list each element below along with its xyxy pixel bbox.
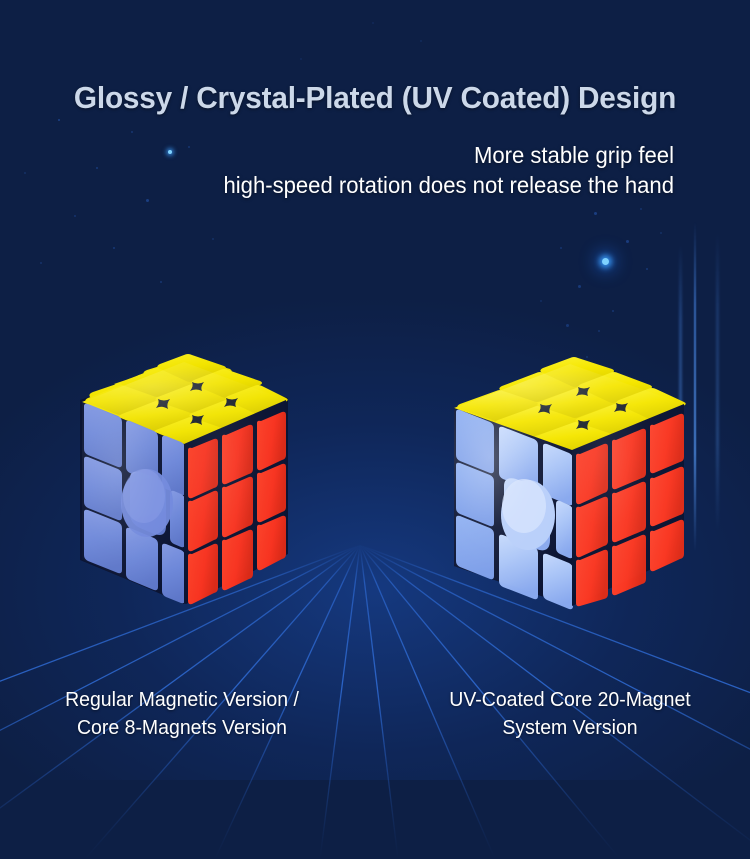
product-caption-regular: Regular Magnetic Version / Core 8-Magnet… <box>21 686 344 742</box>
light-beam-icon <box>716 232 719 532</box>
caption-left-line-1: Regular Magnetic Version / <box>21 686 344 714</box>
subtitle-line-2: high-speed rotation does not release the… <box>79 170 674 200</box>
subtitle: More stable grip feel high-speed rotatio… <box>79 140 674 200</box>
caption-right-line-1: UV-Coated Core 20-Magnet <box>409 686 732 714</box>
product-feature-banner: Glossy / Crystal-Plated (UV Coated) Desi… <box>0 0 750 859</box>
caption-right-line-2: System Version <box>409 714 732 742</box>
glow-particle-icon <box>602 258 609 265</box>
product-caption-uv-coated: UV-Coated Core 20-Magnet System Version <box>409 686 732 742</box>
caption-left-line-2: Core 8-Magnets Version <box>21 714 344 742</box>
rubiks-cube-icon <box>74 358 294 610</box>
subtitle-line-1: More stable grip feel <box>474 142 674 168</box>
rubiks-cube-icon <box>452 360 692 612</box>
page-title: Glossy / Crystal-Plated (UV Coated) Desi… <box>15 80 735 116</box>
